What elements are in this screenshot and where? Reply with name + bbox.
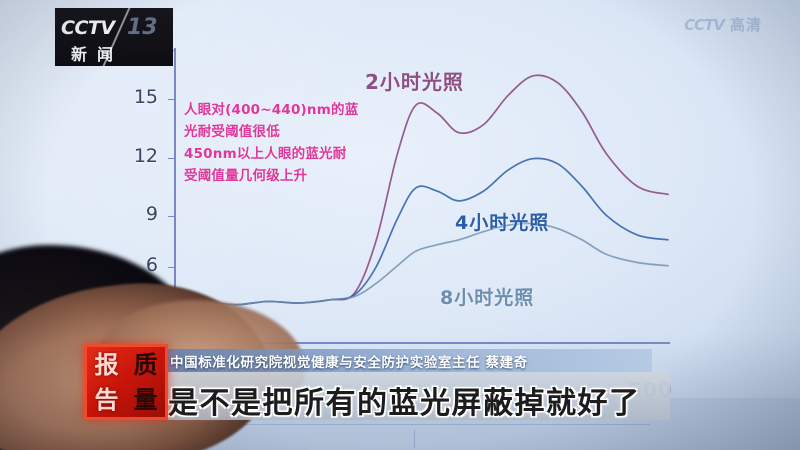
tv-screenshot: 波长(nm) 波长(nm) 18 15 12 9 6 3 500 2小时光照 [0, 0, 800, 450]
program-logo-seal: 报 质 告 量 [84, 344, 168, 420]
annotation-line-3: 450nm以上人眼的蓝光耐 [184, 144, 414, 166]
y-tick-label-text: 15 [134, 86, 158, 108]
y-tick-label-text: 3 [146, 305, 158, 327]
y-tick-label-text: 9 [146, 203, 158, 225]
hd-watermark-label: 高清 [730, 14, 762, 35]
channel-name: 新闻 [71, 41, 123, 65]
y-tick-label-9: 9 [114, 205, 158, 224]
y-tick-label-text: 12 [134, 145, 158, 167]
subtitle-caption: 是不是把所有的蓝光屏蔽掉就好了 [168, 378, 668, 422]
curve-label-8-hour: 8小时光照 [440, 283, 534, 310]
curve-label-2-hour: 2小时光照 [365, 66, 464, 95]
curve-plot-area [160, 48, 670, 368]
channel-bug: CCTV 13 新闻 [55, 8, 173, 66]
y-tick-label-12: 12 [114, 147, 158, 166]
cctv-logo: CCTV [61, 17, 115, 39]
seal-char-3: 告 [87, 382, 126, 417]
annotation-line-4: 受阈值量几何级上升 [184, 166, 414, 188]
hd-watermark-logo: CCTV [684, 16, 724, 34]
blue-light-threshold-chart: 18 15 12 9 6 3 500 2小时光照 4小时光照 8小时光照 人眼对… [160, 48, 670, 388]
channel-number: 13 [127, 15, 158, 40]
hd-watermark: CCTV 高清 [684, 14, 762, 35]
slide-divider-line [150, 424, 650, 425]
seal-char-1: 报 [87, 347, 126, 382]
seal-char-2: 质 [126, 347, 165, 382]
speaker-name-bar: 中国标准化研究院视觉健康与安全防护实验室主任 蔡建奇 [158, 349, 652, 372]
annotation-line-2: 光耐受阈值很低 [184, 122, 414, 144]
speaker-title-text: 中国标准化研究院视觉健康与安全防护实验室主任 蔡建奇 [170, 351, 528, 371]
slide-footnote: 波长(nm) [154, 429, 188, 439]
y-tick-label-text: 6 [146, 254, 158, 276]
slide-annotation-text: 人眼对(400~440)nm的蓝 光耐受阈值很低 450nm以上人眼的蓝光耐 受… [184, 100, 414, 187]
seal-char-4: 量 [126, 382, 165, 417]
y-tick-label-3: 3 [114, 307, 158, 326]
y-tick-label-6: 6 [114, 256, 158, 275]
y-tick-label-15: 15 [114, 88, 158, 107]
curve-label-4-hour: 4小时光照 [455, 208, 549, 235]
annotation-line-1: 人眼对(400~440)nm的蓝 [184, 100, 414, 122]
slide-divider-tick [414, 430, 415, 448]
